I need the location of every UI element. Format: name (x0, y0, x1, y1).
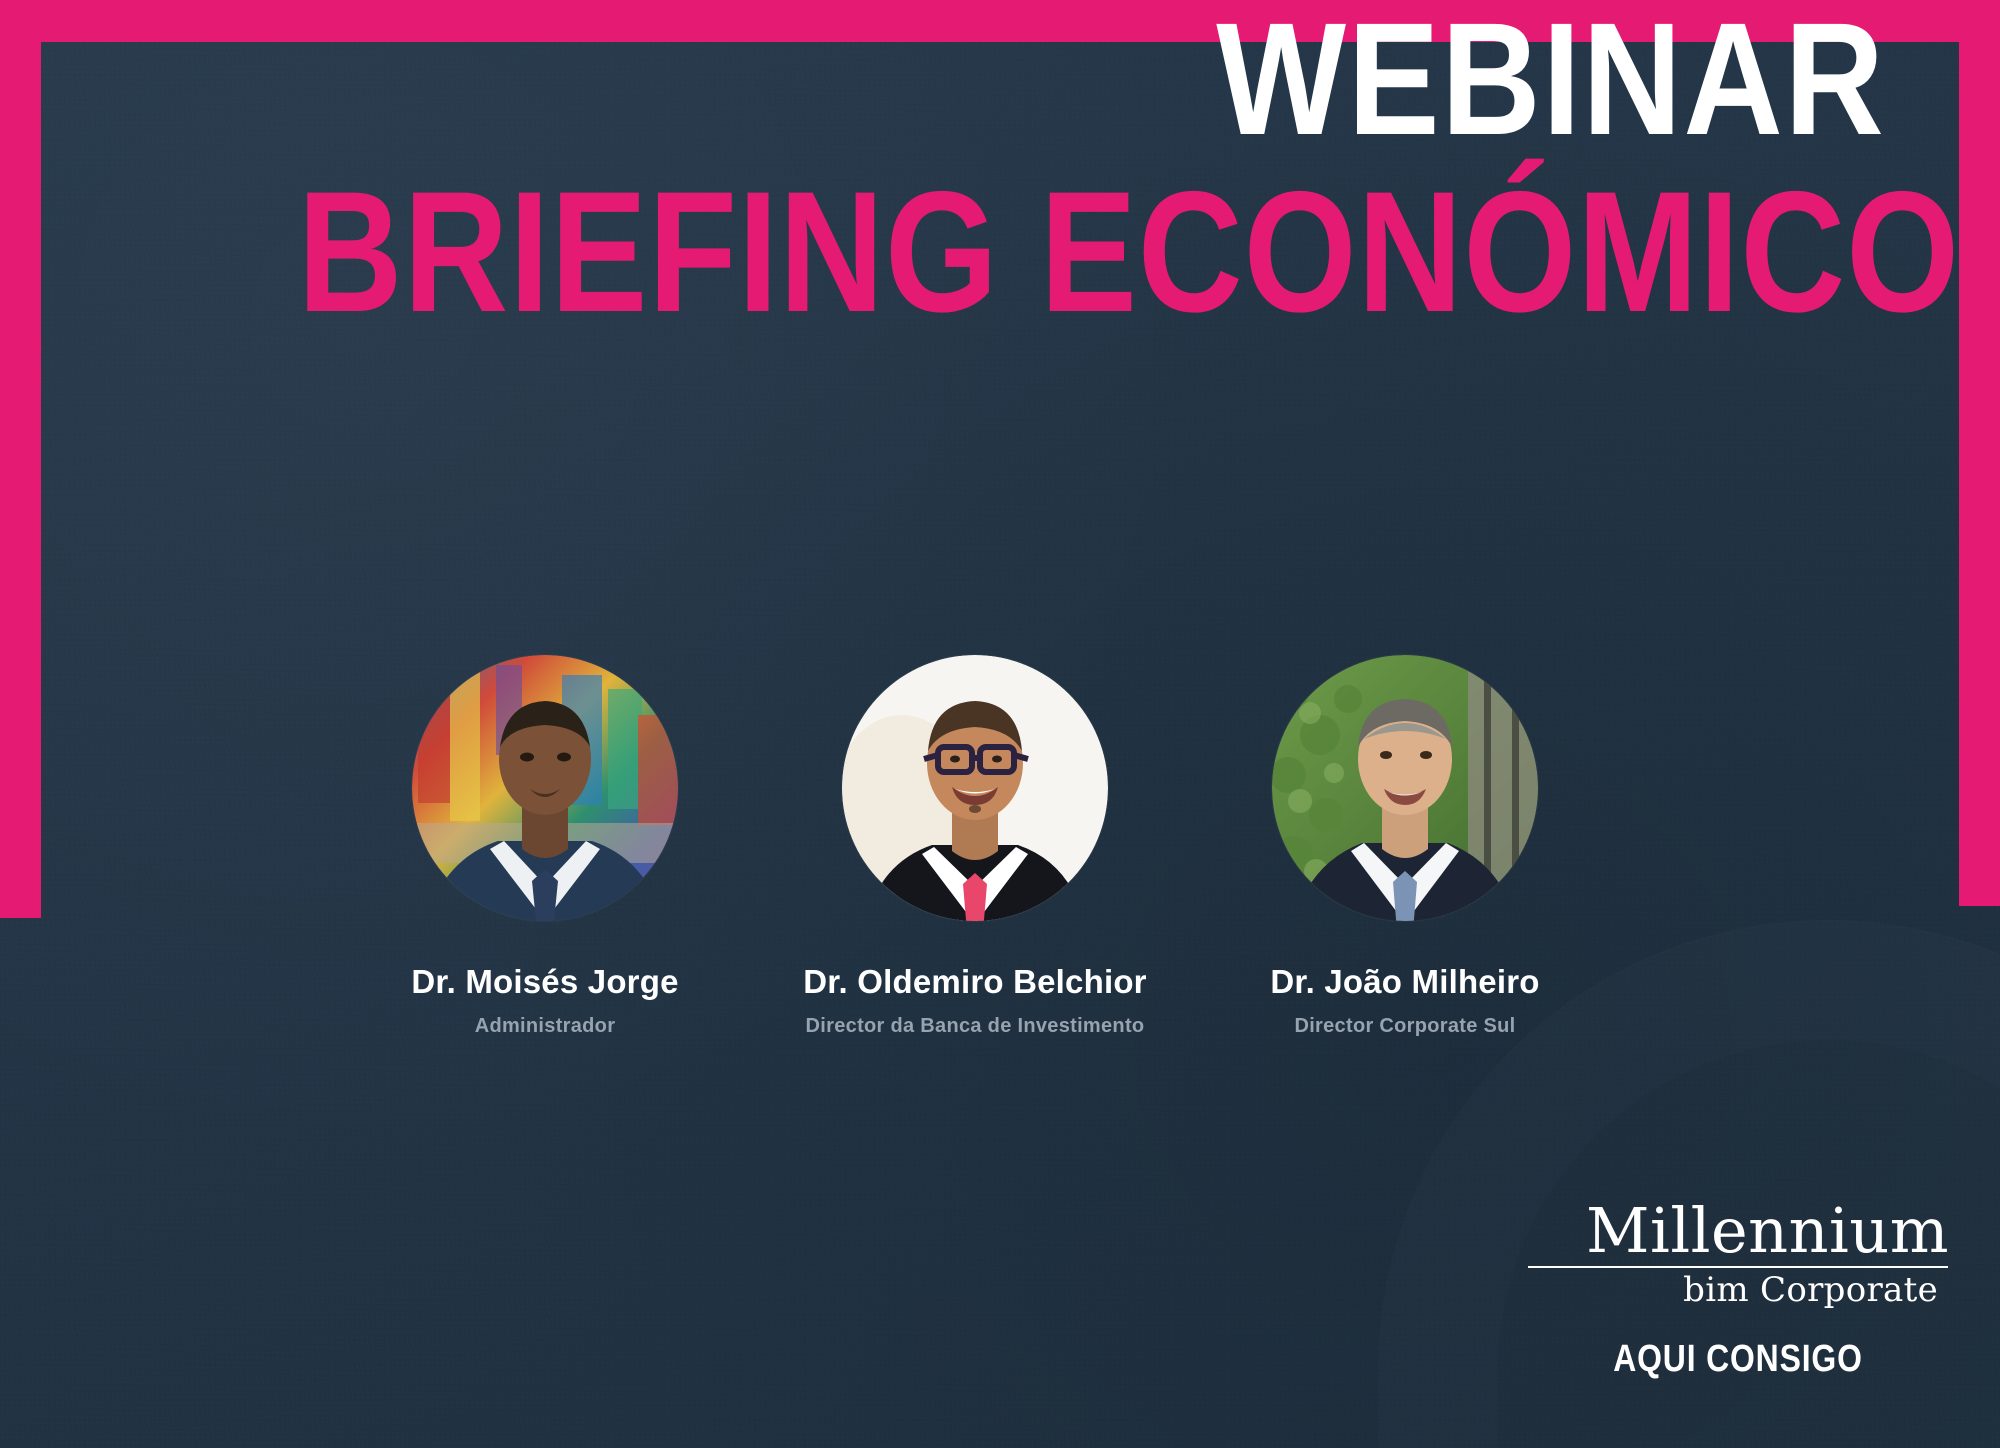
millennium-bim-logo: Millennium bim Corporate AQUI CONSIGO (1528, 1200, 1948, 1381)
avatar (412, 655, 678, 921)
speaker-card: Dr. Oldemiro Belchior Director da Banca … (760, 655, 1190, 1038)
pink-border-left (0, 0, 41, 918)
speaker-name: Dr. João Milheiro (1270, 963, 1539, 1001)
speaker-name: Dr. Moisés Jorge (411, 963, 678, 1001)
speaker-photo-3 (1272, 655, 1538, 921)
webinar-poster: WEBINAR BRIEFING ECONÓMICO (0, 0, 2000, 1448)
speaker-role: Director da Banca de Investimento (806, 1015, 1145, 1038)
avatar (1272, 655, 1538, 921)
logo-tagline: AQUI CONSIGO (1562, 1338, 1915, 1381)
pink-border-right (1959, 0, 2000, 906)
logo-brand: Millennium (1528, 1200, 1948, 1262)
speaker-card: Dr. João Milheiro Director Corporate Sul (1190, 655, 1620, 1038)
pink-border-top (0, 0, 2000, 42)
speaker-role: Administrador (475, 1015, 616, 1038)
speaker-photo-1 (412, 655, 678, 921)
speaker-role: Director Corporate Sul (1294, 1015, 1515, 1038)
logo-subtitle: bim Corporate (1528, 1270, 1948, 1310)
avatar (842, 655, 1108, 921)
speaker-card: Dr. Moisés Jorge Administrador (330, 655, 760, 1038)
speaker-name: Dr. Oldemiro Belchior (803, 963, 1146, 1001)
speakers-row: Dr. Moisés Jorge Administrador (330, 655, 1620, 1038)
speaker-photo-2 (842, 655, 1108, 921)
